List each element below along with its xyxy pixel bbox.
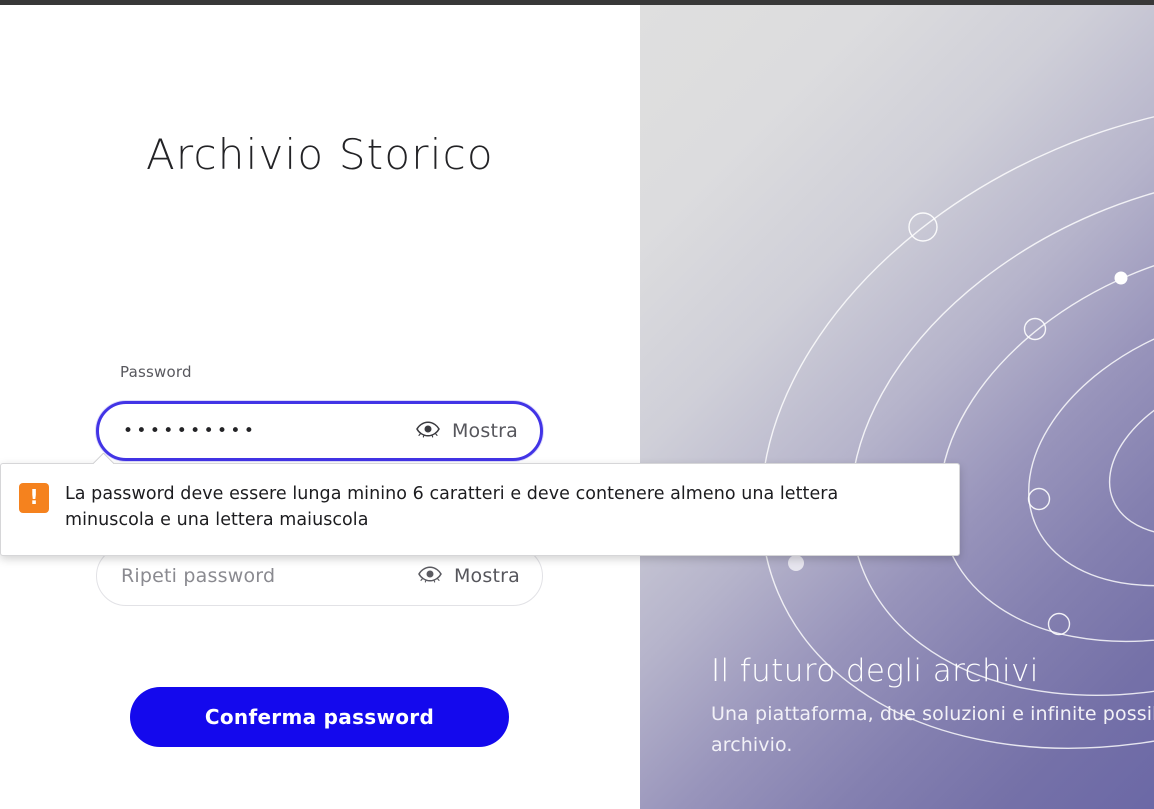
toggle-password-visibility-button[interactable]: Mostra	[416, 420, 518, 442]
warning-exclamation-glyph: !	[19, 487, 49, 507]
warning-exclamation-icon: !	[19, 483, 49, 513]
password-field[interactable]: •••••••••• Mostra	[96, 401, 543, 461]
confirm-password-button[interactable]: Conferma password	[130, 687, 509, 747]
password-field-label: Password	[120, 363, 192, 381]
toggle-repeat-password-visibility-label: Mostra	[454, 565, 520, 587]
password-masked-value: ••••••••••	[123, 423, 257, 440]
password-validation-message: La password deve essere lunga minino 6 c…	[65, 482, 885, 533]
app-screen: Archivio Storico Password •••••••••• Mos…	[0, 0, 1154, 809]
eye-icon	[418, 565, 442, 587]
toggle-password-visibility-label: Mostra	[452, 420, 518, 442]
hero-title: Il futuro degli archivi	[711, 653, 1154, 689]
window-chrome-bar	[0, 0, 1154, 5]
repeat-password-placeholder: Ripeti password	[121, 565, 275, 587]
toggle-repeat-password-visibility-button[interactable]: Mostra	[418, 565, 520, 587]
page-title: Archivio Storico	[146, 130, 494, 179]
hero-subtitle: Una piattaforma, due soluzioni e infinit…	[711, 699, 1154, 761]
hero-panel: Il futuro degli archivi Una piattaforma,…	[640, 5, 1154, 809]
eye-icon	[416, 420, 440, 442]
auth-panel: Archivio Storico Password •••••••••• Mos…	[0, 5, 640, 809]
password-validation-tooltip: ! La password deve essere lunga minino 6…	[0, 463, 960, 556]
hero-copy: Il futuro degli archivi Una piattaforma,…	[711, 653, 1154, 761]
tooltip-pointer	[93, 453, 115, 464]
